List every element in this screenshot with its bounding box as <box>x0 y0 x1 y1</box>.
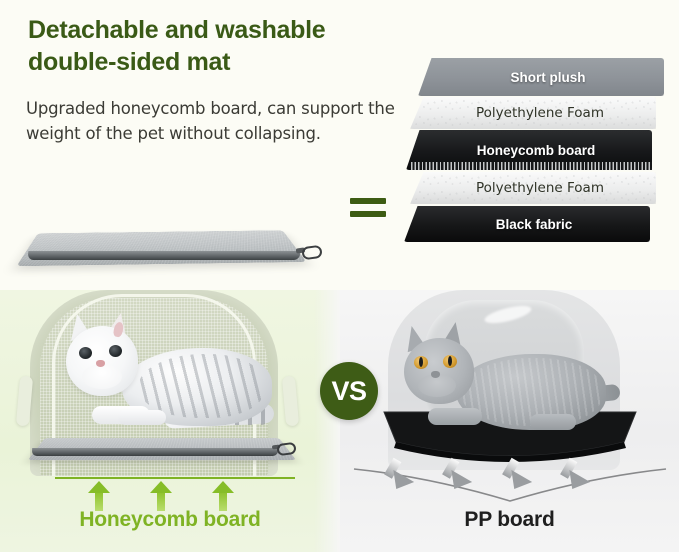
headline-block: Detachable and washable double-sided mat <box>24 14 414 78</box>
layer-label: Black fabric <box>482 217 573 232</box>
cat-eye-right <box>109 345 122 357</box>
layer-black-fabric: Black fabric <box>404 206 650 242</box>
caption-pp-board: PP board <box>340 508 679 532</box>
arrow-down-icon <box>503 460 529 492</box>
cat-hind-paw <box>530 414 576 430</box>
cat-front-paw <box>428 408 482 425</box>
mat-surface <box>17 230 307 266</box>
mat-illustration <box>10 178 320 283</box>
arrow-head <box>444 470 472 495</box>
top-section: Detachable and washable double-sided mat… <box>0 0 679 290</box>
arrow-down-icon <box>443 460 469 492</box>
vs-badge: VS <box>320 362 378 420</box>
cat-nose <box>96 360 105 367</box>
arrow-head <box>88 481 110 493</box>
zipper-icon <box>272 442 294 456</box>
cat-eye-left <box>79 347 92 359</box>
carrier-strap-right <box>282 376 299 427</box>
headline-line-1: Detachable and washable <box>24 14 329 46</box>
arrow-up-icon <box>212 481 234 511</box>
equals-bar-top <box>350 198 386 204</box>
arrow-up-icon <box>88 481 110 511</box>
layer-label: Short plush <box>497 70 586 85</box>
layer-polyethylene-foam-bottom: Polyethylene Foam <box>410 172 656 204</box>
cat-body-stripes <box>138 354 264 418</box>
subtext: Upgraded honeycomb board, can support th… <box>26 96 398 146</box>
arrow-down-icon <box>385 460 411 492</box>
cat-second-paw <box>118 410 166 425</box>
cat-muzzle <box>82 364 122 389</box>
cat-silver-tabby <box>52 314 272 432</box>
arrow-head <box>212 481 234 493</box>
arrow-head <box>562 470 590 495</box>
layer-stack: Short plush Polyethylene Foam Honeycomb … <box>404 58 672 276</box>
headline-line-2-text: double-sided mat <box>28 48 230 76</box>
layer-short-plush: Short plush <box>418 58 664 96</box>
arrow-head <box>386 470 414 495</box>
mat-texture <box>17 230 307 266</box>
arrow-down-icon <box>561 460 587 492</box>
layer-label: Polyethylene Foam <box>462 180 604 196</box>
cat-gray <box>398 324 614 440</box>
arrow-up-icon <box>150 481 172 511</box>
corrugation-texture <box>411 162 652 170</box>
support-line-straight <box>55 477 295 479</box>
zipper-pull <box>276 442 296 457</box>
layer-label: Polyethylene Foam <box>462 105 604 121</box>
equals-icon <box>350 198 386 222</box>
arrow-head <box>150 481 172 493</box>
layer-polyethylene-foam-top: Polyethylene Foam <box>410 97 656 129</box>
layer-label: Honeycomb board <box>463 143 596 158</box>
zipper-pull <box>301 245 323 261</box>
zipper-icon <box>296 244 320 260</box>
honeycomb-mat-edge <box>32 448 278 456</box>
caption-honeycomb-board: Honeycomb board <box>0 508 340 532</box>
arrow-head <box>504 470 532 495</box>
layer-honeycomb-board: Honeycomb board <box>406 130 652 170</box>
mat-side-edge <box>28 251 301 260</box>
cat-pupil-right <box>448 356 452 366</box>
downward-arrows-group <box>385 460 635 494</box>
equals-bar-bottom <box>350 211 386 217</box>
headline-line-2: double-sided mat <box>24 46 234 78</box>
headline-line-1-text: Detachable and washable <box>28 16 325 44</box>
cat-nose <box>431 371 440 378</box>
infographic-page: Detachable and washable double-sided mat… <box>0 0 679 552</box>
cat-pupil-left <box>419 357 423 367</box>
